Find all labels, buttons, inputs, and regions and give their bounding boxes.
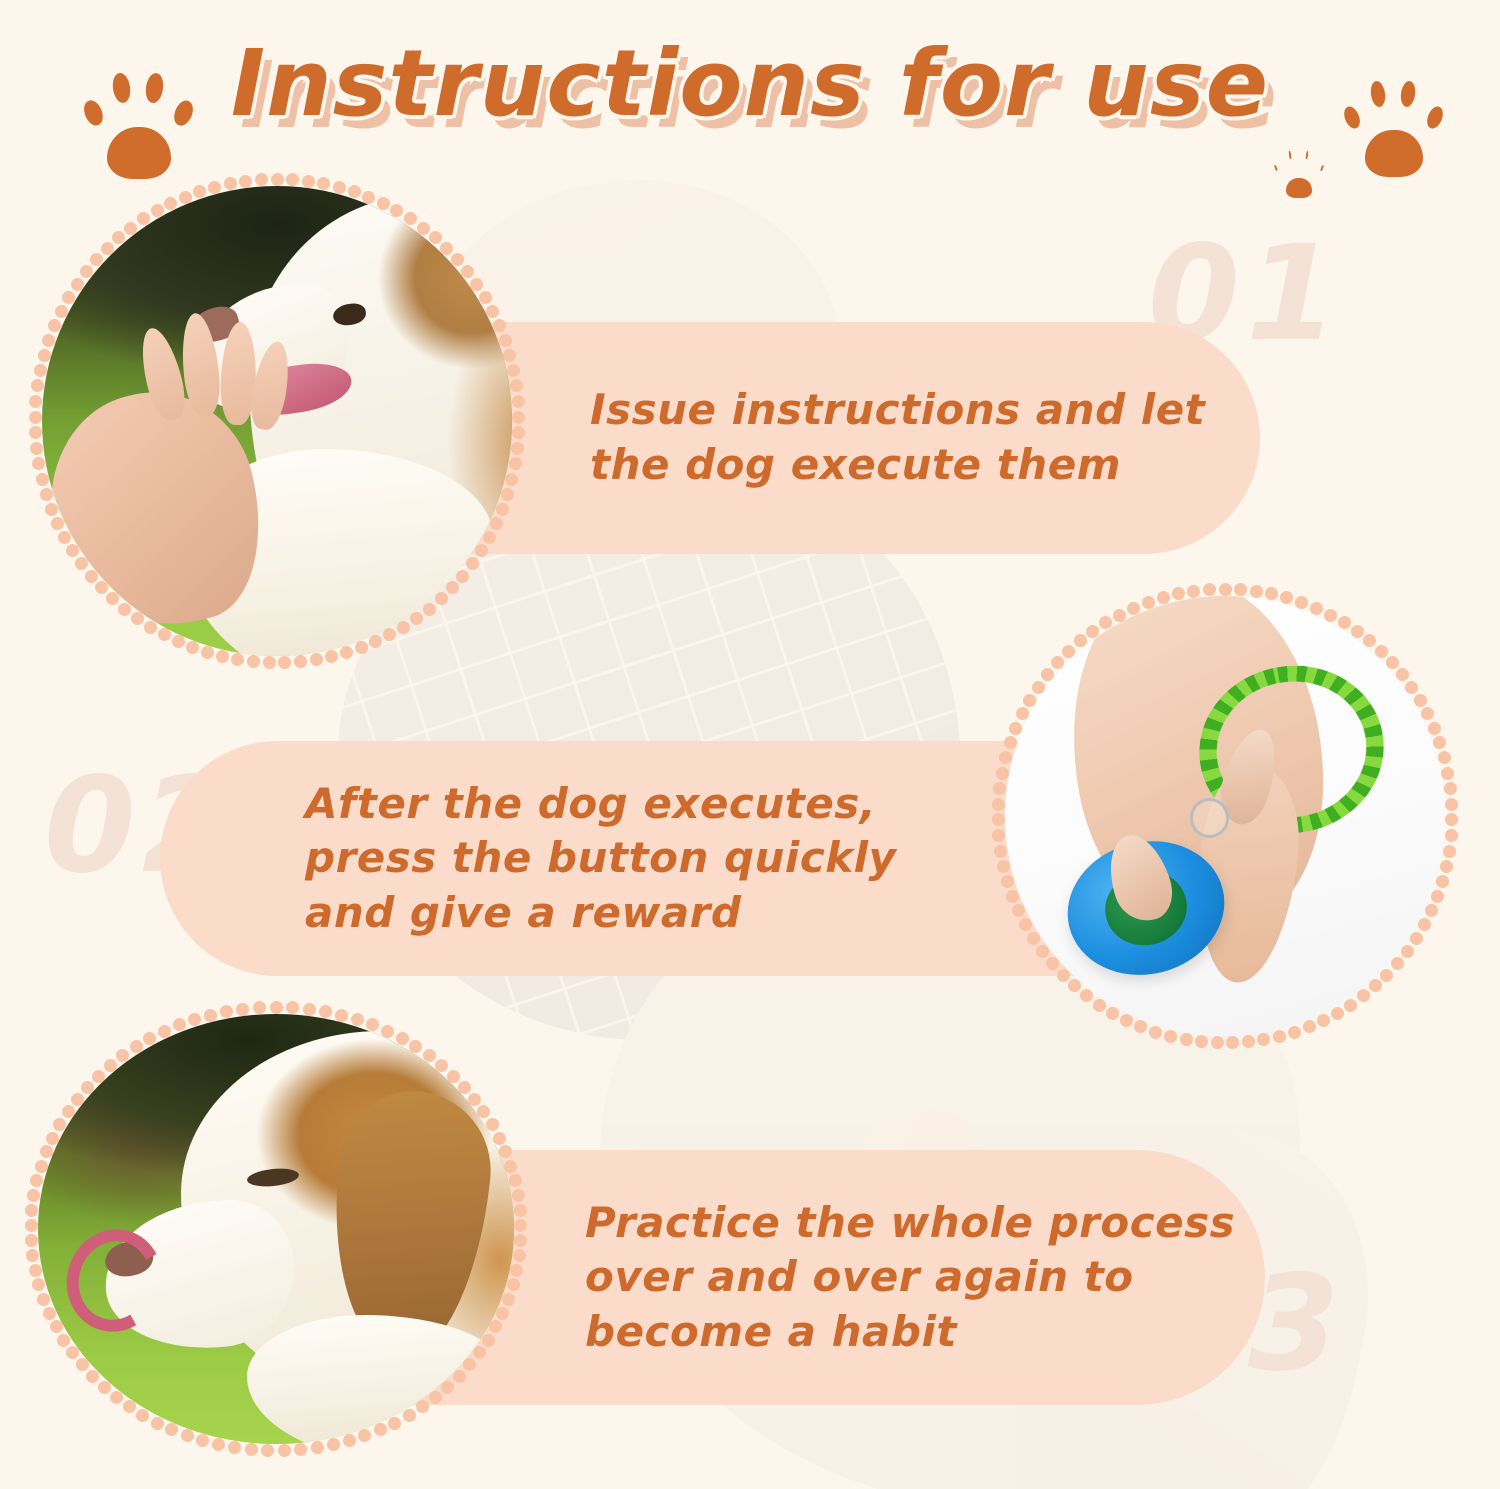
paw-print-icon-right-large <box>1338 74 1450 186</box>
dog-licking-nose-image <box>38 1014 514 1444</box>
instructions-infographic: 01 02 03 Instructions for use <box>0 0 1500 1489</box>
step-3-photo <box>38 1014 514 1444</box>
step-1-photo <box>42 186 512 656</box>
paw-print-icon-right-small <box>1268 144 1330 206</box>
step-1-text: Issue instructions and let the dog execu… <box>590 383 1205 492</box>
page-title: Instructions for use <box>0 30 1500 137</box>
step-2-photo <box>1005 596 1445 1036</box>
hand-pressing-clicker-image <box>1005 596 1445 1036</box>
hand-signal-to-dog-image <box>42 186 512 656</box>
header: Instructions for use <box>0 24 1500 174</box>
step-2-text: After the dog executes, press the button… <box>305 777 896 941</box>
step-3-text: Practice the whole process over and over… <box>585 1196 1235 1360</box>
